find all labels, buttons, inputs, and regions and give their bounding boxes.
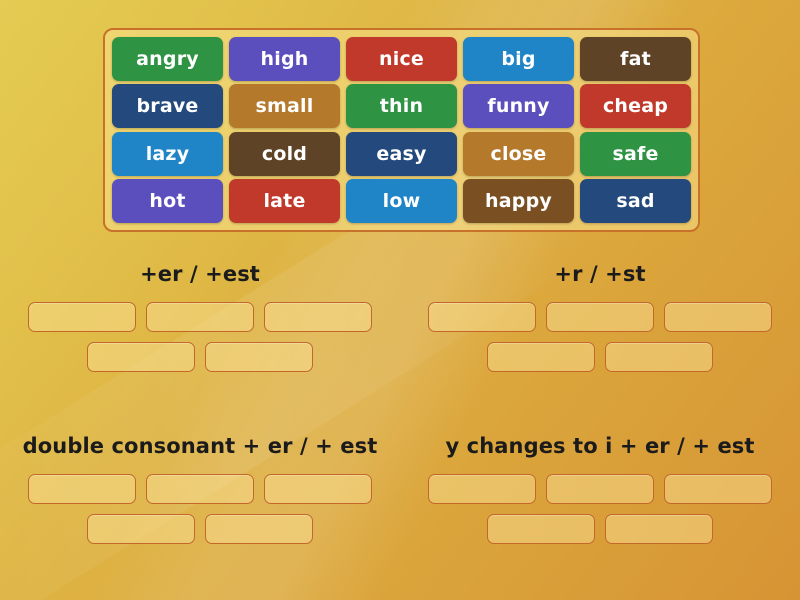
drop-slot[interactable] — [664, 474, 772, 504]
word-tile[interactable]: low — [346, 179, 457, 223]
word-tile[interactable]: cheap — [580, 84, 691, 128]
word-tile[interactable]: fat — [580, 37, 691, 81]
category-label: +r / +st — [554, 262, 645, 286]
word-bank-row: lazy cold easy close safe — [112, 132, 691, 176]
drop-slot[interactable] — [146, 474, 254, 504]
activity-stage: angry high nice big fat brave small thin… — [0, 0, 800, 600]
category-y-to-i: y changes to i + er / + est — [400, 420, 800, 592]
drop-slot-group — [414, 474, 786, 544]
word-tile[interactable]: angry — [112, 37, 223, 81]
category-double-consonant: double consonant + er / + est — [0, 420, 400, 592]
drop-slot[interactable] — [487, 342, 595, 372]
drop-slot[interactable] — [428, 302, 536, 332]
drop-slot[interactable] — [146, 302, 254, 332]
category-r-st: +r / +st — [400, 248, 800, 420]
word-tile[interactable]: late — [229, 179, 340, 223]
drop-slot[interactable] — [28, 474, 136, 504]
word-tile[interactable]: thin — [346, 84, 457, 128]
drop-slot[interactable] — [264, 302, 372, 332]
word-bank: angry high nice big fat brave small thin… — [103, 28, 700, 232]
word-tile[interactable]: brave — [112, 84, 223, 128]
word-bank-row: brave small thin funny cheap — [112, 84, 691, 128]
drop-slot[interactable] — [664, 302, 772, 332]
drop-slot-row — [414, 514, 786, 544]
drop-slot[interactable] — [87, 342, 195, 372]
drop-slot-row — [414, 302, 786, 332]
drop-slot[interactable] — [205, 514, 313, 544]
drop-slot[interactable] — [487, 514, 595, 544]
drop-slot-row — [414, 474, 786, 504]
drop-slot-row — [14, 302, 386, 332]
category-label: double consonant + er / + est — [23, 434, 378, 458]
drop-slot-group — [414, 302, 786, 372]
drop-slot[interactable] — [264, 474, 372, 504]
word-tile[interactable]: funny — [463, 84, 574, 128]
drop-slot-row — [14, 514, 386, 544]
drop-slot[interactable] — [546, 302, 654, 332]
word-tile[interactable]: small — [229, 84, 340, 128]
word-bank-row: hot late low happy sad — [112, 179, 691, 223]
drop-slot-row — [14, 342, 386, 372]
word-tile[interactable]: hot — [112, 179, 223, 223]
drop-slot[interactable] — [205, 342, 313, 372]
word-tile[interactable]: happy — [463, 179, 574, 223]
category-label: y changes to i + er / + est — [445, 434, 754, 458]
drop-slot[interactable] — [546, 474, 654, 504]
word-tile[interactable]: sad — [580, 179, 691, 223]
word-tile[interactable]: nice — [346, 37, 457, 81]
drop-slot-group — [14, 302, 386, 372]
drop-slot[interactable] — [87, 514, 195, 544]
word-tile[interactable]: lazy — [112, 132, 223, 176]
drop-slot[interactable] — [605, 342, 713, 372]
word-tile[interactable]: close — [463, 132, 574, 176]
word-tile[interactable]: big — [463, 37, 574, 81]
drop-slot[interactable] — [28, 302, 136, 332]
word-bank-row: angry high nice big fat — [112, 37, 691, 81]
drop-slot-group — [14, 474, 386, 544]
drop-slot-row — [14, 474, 386, 504]
word-tile[interactable]: high — [229, 37, 340, 81]
word-tile[interactable]: safe — [580, 132, 691, 176]
category-grid: +er / +est +r / +st — [0, 248, 800, 592]
word-tile[interactable]: easy — [346, 132, 457, 176]
drop-slot[interactable] — [605, 514, 713, 544]
category-er-est: +er / +est — [0, 248, 400, 420]
drop-slot-row — [414, 342, 786, 372]
word-tile[interactable]: cold — [229, 132, 340, 176]
drop-slot[interactable] — [428, 474, 536, 504]
category-label: +er / +est — [140, 262, 260, 286]
